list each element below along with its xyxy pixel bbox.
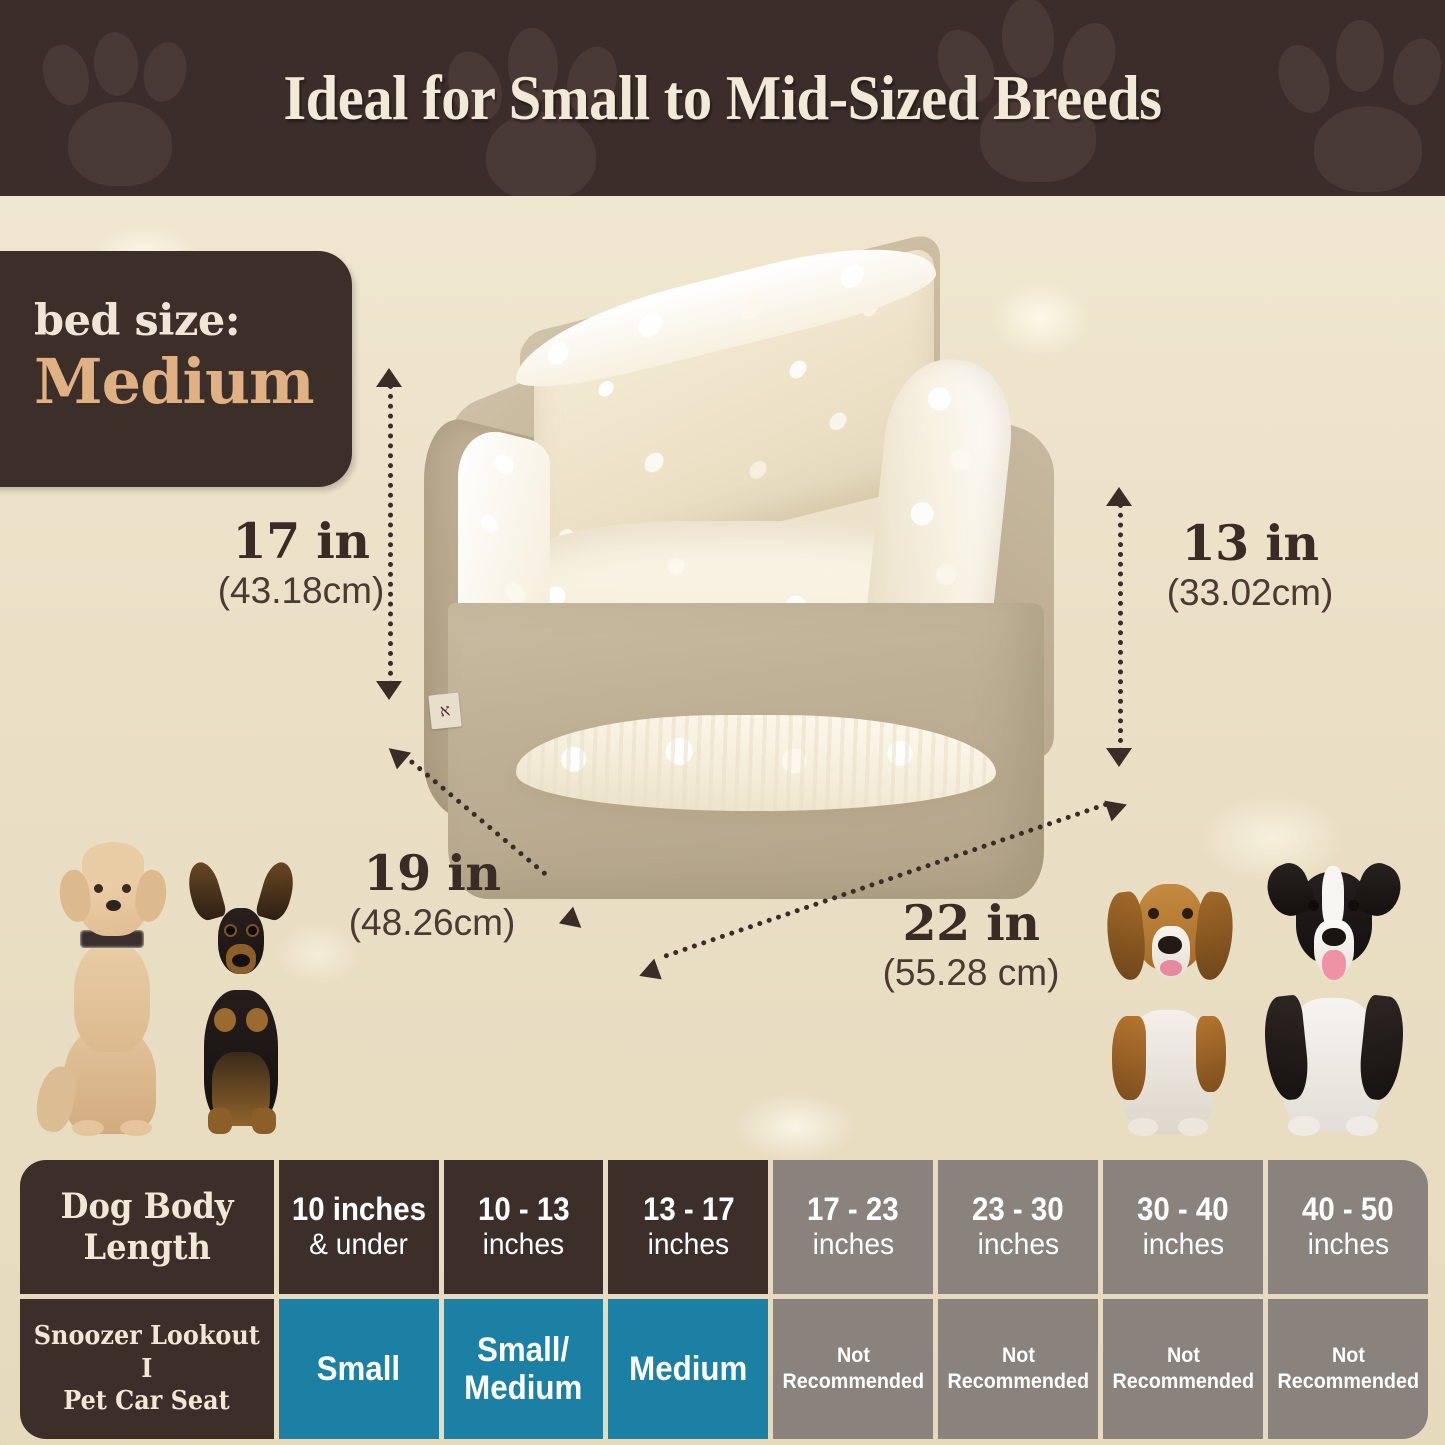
table-cell-recommendation: Small/ Medium: [444, 1299, 604, 1439]
dog-photo-beagle: [1096, 840, 1246, 1140]
table-cell-recommendation: Not Recommended: [1103, 1299, 1263, 1439]
table-header-cell: 30 - 40 inches: [1103, 1160, 1263, 1294]
dimension-metric: (33.02cm): [1140, 571, 1360, 615]
dimension-metric: (55.28 cm): [846, 951, 1096, 995]
dimension-label-height: 17 in (43.18cm): [196, 516, 406, 614]
bed-size-value: Medium: [34, 346, 314, 417]
row-header-line2: Pet Car Seat: [64, 1385, 230, 1418]
table-cell-recommendation: Small: [279, 1299, 439, 1439]
table-header-row: Dog Body Length 10 inches & under 10 - 1…: [20, 1160, 1428, 1294]
page-title: Ideal for Small to Mid-Sized Breeds: [51, 0, 1395, 196]
cell-line1: Not: [1167, 1343, 1200, 1369]
dimension-metric: (43.18cm): [196, 569, 406, 613]
cell-line2: Recommended: [947, 1369, 1089, 1395]
dimension-label-depth: 19 in (48.26cm): [318, 848, 546, 946]
cell-line2: Recommended: [1112, 1369, 1254, 1395]
infographic-page: Ideal for Small to Mid-Sized Breeds bed …: [0, 0, 1445, 1445]
dog-size-chart-table: Dog Body Length 10 inches & under 10 - 1…: [20, 1160, 1428, 1439]
table-cell-recommendation: Not Recommended: [1268, 1299, 1428, 1439]
cell-line1: Not: [837, 1343, 870, 1369]
table-cell-recommendation: Not Recommended: [773, 1299, 933, 1439]
header-cell-line1: 10 inches: [291, 1192, 425, 1227]
dog-photo-poodle: [38, 838, 188, 1138]
header-cell-line1: 17 - 23: [807, 1192, 899, 1227]
cell-line1: Not: [1332, 1343, 1365, 1369]
dimension-metric: (48.26cm): [318, 901, 546, 945]
cell-line2: Recommended: [1277, 1369, 1419, 1395]
header-cell-line1: 23 - 30: [972, 1192, 1064, 1227]
header-cell-line1: 40 - 50: [1302, 1192, 1394, 1227]
table-cell-recommendation: Not Recommended: [938, 1299, 1098, 1439]
header-cell-line1: 13 - 17: [643, 1192, 735, 1227]
bed-size-badge: bed size: Medium: [0, 251, 352, 487]
cell-line1: Not: [1002, 1343, 1035, 1369]
header-cell-line1: 30 - 40: [1137, 1192, 1229, 1227]
row-header-line1: Snoozer Lookout I: [30, 1320, 263, 1385]
dimension-inches: 19 in: [318, 848, 546, 899]
table-row-header-product: Snoozer Lookout I Pet Car Seat: [20, 1299, 274, 1439]
dimension-inches: 13 in: [1140, 518, 1360, 569]
header-cell-line2: inches: [813, 1227, 895, 1262]
dimension-arrow-back-height: [1104, 487, 1138, 767]
table-header-cell: 10 inches & under: [279, 1160, 439, 1294]
cell-line1: Small/: [477, 1331, 569, 1369]
header-cell-line2: inches: [483, 1227, 565, 1262]
dog-photo-miniature-pinscher: [178, 862, 308, 1138]
dimension-label-width: 22 in (55.28 cm): [846, 898, 1096, 996]
table-body-row: Snoozer Lookout I Pet Car Seat Small Sma…: [20, 1299, 1428, 1439]
header-cell-line1: 10 - 13: [478, 1192, 570, 1227]
header-cell-line2: inches: [977, 1227, 1059, 1262]
header-cell-line2: inches: [648, 1227, 730, 1262]
table-header-cell: 10 - 13 inches: [444, 1160, 604, 1294]
header-cell-line2: inches: [1307, 1227, 1389, 1262]
row-header-line1: Dog Body: [60, 1186, 233, 1227]
cell-line2: Recommended: [783, 1369, 925, 1395]
dimension-inches: 17 in: [196, 516, 406, 567]
row-header-line2: Length: [83, 1227, 210, 1268]
brand-tag-icon: א: [428, 693, 461, 730]
bed-size-label: bed size:: [34, 299, 314, 344]
dog-photo-border-collie: [1256, 836, 1416, 1142]
dimension-inches: 22 in: [846, 898, 1096, 949]
table-cell-recommendation: Medium: [608, 1299, 768, 1439]
dimension-label-back-height: 13 in (33.02cm): [1140, 518, 1360, 616]
table-header-cell: 40 - 50 inches: [1268, 1160, 1428, 1294]
table-header-cell: 23 - 30 inches: [938, 1160, 1098, 1294]
header-cell-line2: & under: [309, 1227, 408, 1262]
cell-line2: Medium: [464, 1369, 582, 1407]
table-header-cell: 13 - 17 inches: [608, 1160, 768, 1294]
table-row-header-dog-body-length: Dog Body Length: [20, 1160, 274, 1294]
table-header-cell: 17 - 23 inches: [773, 1160, 933, 1294]
header-cell-line2: inches: [1142, 1227, 1224, 1262]
cell-line1: Medium: [629, 1350, 747, 1388]
header-banner: Ideal for Small to Mid-Sized Breeds: [0, 0, 1445, 196]
cell-line1: Small: [317, 1350, 400, 1388]
